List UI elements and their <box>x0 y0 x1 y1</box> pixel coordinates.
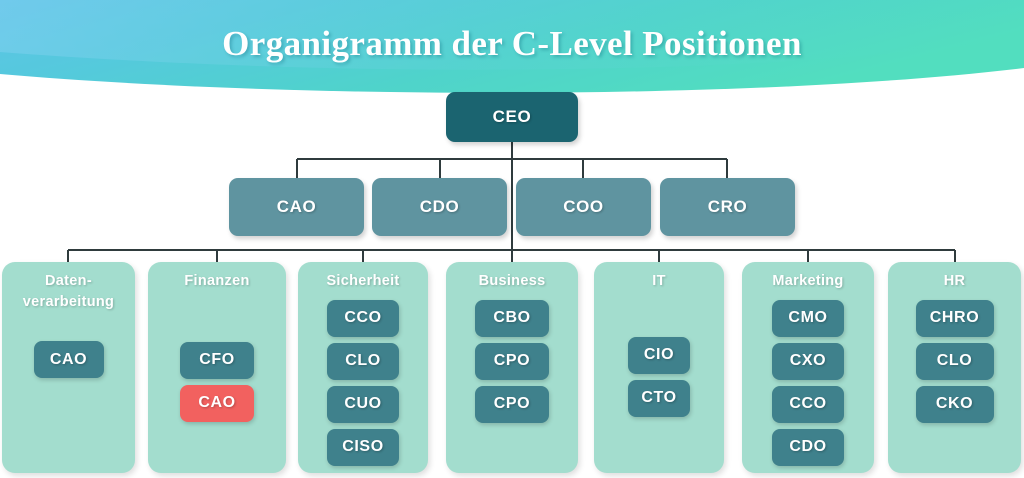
panel-title-line: Sicherheit <box>302 271 424 292</box>
panel-title-line: verarbeitung <box>6 292 131 313</box>
panel-it-roles: CIO CTO <box>594 300 724 417</box>
panel-hr-title: HR <box>888 271 1021 292</box>
panel-business[interactable]: Business CBO CPO CPO <box>446 262 578 473</box>
role-box-cxo[interactable]: CXO <box>772 343 844 380</box>
panel-it-title: IT <box>594 271 724 292</box>
node-ceo[interactable]: CEO <box>446 92 578 142</box>
role-box-cpo-2[interactable]: CPO <box>475 386 549 423</box>
panel-business-roles: CBO CPO CPO <box>446 300 578 423</box>
panel-title-line: Business <box>450 271 574 292</box>
panel-hr[interactable]: HR CHRO CLO CKO <box>888 262 1021 473</box>
node-level2-cdo-label: CDO <box>420 197 460 217</box>
node-level2-cro-label: CRO <box>708 197 748 217</box>
panel-marketing-roles: CMO CXO CCO CDO <box>742 300 874 466</box>
panel-datenverarbeitung[interactable]: Daten- verarbeitung CAO <box>2 262 135 473</box>
panel-finanzen-roles: CFO CAO <box>148 300 286 422</box>
role-box-chro[interactable]: CHRO <box>916 300 994 337</box>
panel-marketing-title: Marketing <box>742 271 874 292</box>
role-box-cdo[interactable]: CDO <box>772 429 844 466</box>
page-title: Organigramm der C-Level Positionen <box>0 24 1024 64</box>
node-level2-cdo[interactable]: CDO <box>372 178 507 236</box>
node-level2-coo[interactable]: COO <box>516 178 651 236</box>
role-box-clo[interactable]: CLO <box>916 343 994 380</box>
panel-title-line: Daten- <box>6 271 131 292</box>
org-chart: CEO CAO CDO COO CRO Daten- verarbeitung … <box>0 0 1024 478</box>
panel-datenverarbeitung-title: Daten- verarbeitung <box>2 271 135 312</box>
role-box-ciso[interactable]: CISO <box>327 429 399 466</box>
node-level2-cao-label: CAO <box>277 197 317 217</box>
panel-datenverarbeitung-roles: CAO <box>2 320 135 378</box>
role-box-cbo[interactable]: CBO <box>475 300 549 337</box>
role-box-cto[interactable]: CTO <box>628 380 690 417</box>
node-level2-cro[interactable]: CRO <box>660 178 795 236</box>
panel-hr-roles: CHRO CLO CKO <box>888 300 1021 423</box>
role-box-clo[interactable]: CLO <box>327 343 399 380</box>
role-box-cio[interactable]: CIO <box>628 337 690 374</box>
role-box-cuo[interactable]: CUO <box>327 386 399 423</box>
panel-sicherheit[interactable]: Sicherheit CCO CLO CUO CISO <box>298 262 428 473</box>
panel-finanzen-title: Finanzen <box>148 271 286 292</box>
role-box-cao-highlighted[interactable]: CAO <box>180 385 254 422</box>
panel-title-line: Finanzen <box>152 271 282 292</box>
role-box-cko[interactable]: CKO <box>916 386 994 423</box>
node-level2-cao[interactable]: CAO <box>229 178 364 236</box>
panel-title-line: HR <box>892 271 1017 292</box>
node-ceo-label: CEO <box>493 107 532 127</box>
panel-it[interactable]: IT CIO CTO <box>594 262 724 473</box>
panel-marketing[interactable]: Marketing CMO CXO CCO CDO <box>742 262 874 473</box>
panel-sicherheit-title: Sicherheit <box>298 271 428 292</box>
role-box-cao[interactable]: CAO <box>34 341 104 378</box>
role-box-cco[interactable]: CCO <box>327 300 399 337</box>
role-box-cco[interactable]: CCO <box>772 386 844 423</box>
role-box-cmo[interactable]: CMO <box>772 300 844 337</box>
role-box-cpo-1[interactable]: CPO <box>475 343 549 380</box>
panel-sicherheit-roles: CCO CLO CUO CISO <box>298 300 428 466</box>
role-box-cfo[interactable]: CFO <box>180 342 254 379</box>
node-level2-coo-label: COO <box>563 197 604 217</box>
panel-title-line: IT <box>598 271 720 292</box>
panel-business-title: Business <box>446 271 578 292</box>
panel-finanzen[interactable]: Finanzen CFO CAO <box>148 262 286 473</box>
panel-title-line: Marketing <box>746 271 870 292</box>
